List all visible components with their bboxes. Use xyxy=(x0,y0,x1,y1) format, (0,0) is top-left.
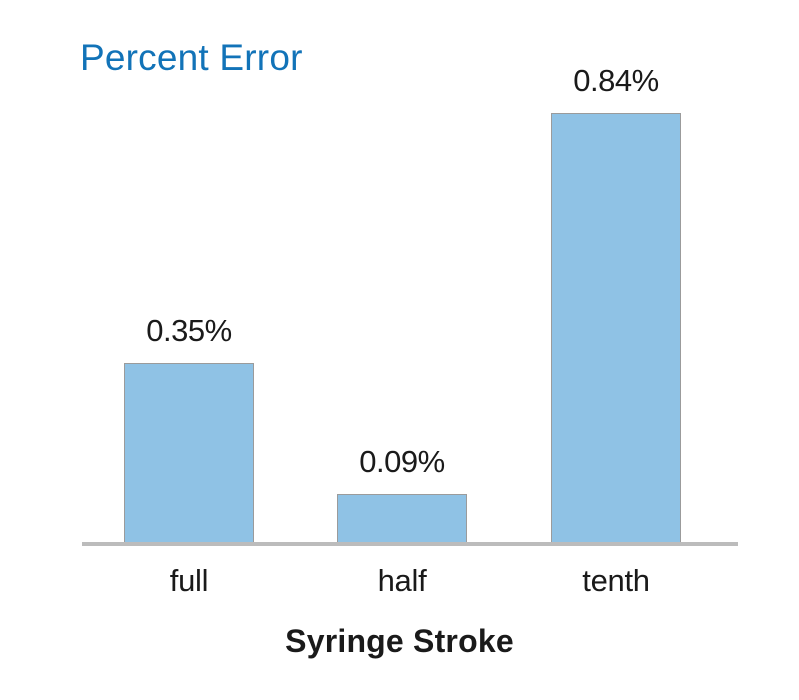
bar-full[interactable] xyxy=(124,363,254,543)
bar-half[interactable] xyxy=(337,494,467,543)
bar-value-label-half: 0.09% xyxy=(359,444,444,480)
x-axis-line xyxy=(82,542,738,546)
bar-category-label-tenth: tenth xyxy=(582,563,649,599)
bar-category-label-full: full xyxy=(170,563,208,599)
x-axis-title: Syringe Stroke xyxy=(0,623,799,660)
bar-tenth[interactable] xyxy=(551,113,681,543)
bar-category-label-half: half xyxy=(378,563,427,599)
bar-value-label-full: 0.35% xyxy=(146,313,231,349)
bars-layer: 0.35% full 0.09% half 0.84% tenth xyxy=(0,0,799,700)
bar-value-label-tenth: 0.84% xyxy=(573,63,658,99)
percent-error-bar-chart: Percent Error 0.35% full 0.09% half 0.84… xyxy=(0,0,799,700)
